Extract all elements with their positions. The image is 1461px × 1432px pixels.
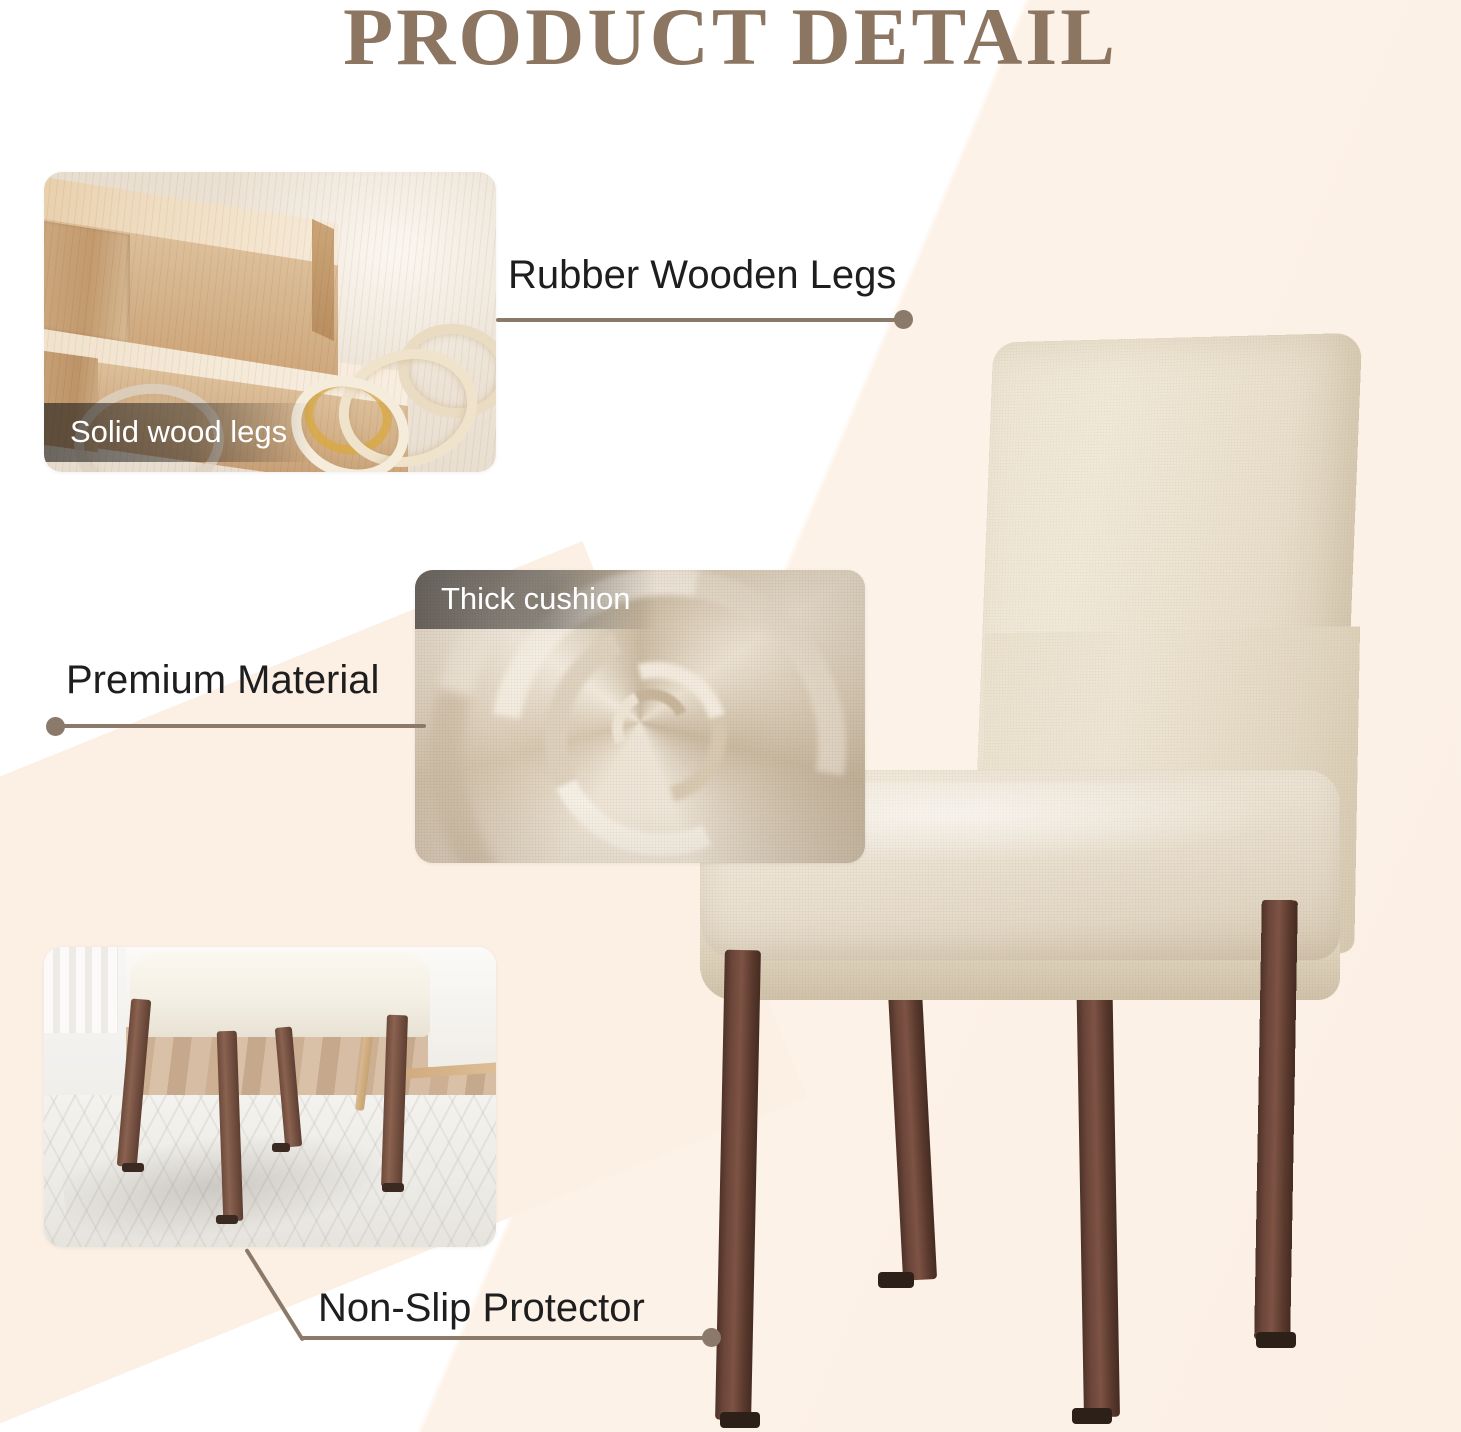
room-curtain (44, 947, 118, 1033)
image-caption-thick-cushion: Thick cushion (415, 570, 657, 629)
leg-protector-front-right (1256, 1332, 1296, 1348)
feature-image-solid-wood: Solid wood legs (44, 172, 496, 472)
leg-protector-front-left (720, 1412, 760, 1428)
product-detail-infographic: PRODUCT DETAIL (0, 0, 1461, 1432)
leader-dot-rubber-wooden-legs (894, 310, 913, 329)
callout-label-premium-material: Premium Material (66, 660, 379, 700)
callout-label-rubber-wooden-legs: Rubber Wooden Legs (508, 255, 896, 295)
leader-line-premium-material (56, 724, 426, 728)
room-leg-protector-4 (382, 1183, 404, 1192)
hero-chair-image (660, 330, 1400, 1430)
leader-dot-non-slip-protector (702, 1328, 721, 1347)
feature-image-thick-cushion: Thick cushion (415, 570, 865, 863)
leader-dot-premium-material (46, 717, 65, 736)
room-wall-right (428, 947, 496, 1067)
leader-line-rubber-wooden-legs (496, 318, 906, 322)
room-leg-protector-1 (122, 1163, 144, 1172)
feature-image-non-slip (44, 947, 496, 1247)
leg-protector-back-right (1072, 1408, 1112, 1424)
callout-label-non-slip-protector: Non-Slip Protector (318, 1288, 645, 1328)
room-chair-seat (130, 953, 430, 1037)
leader-line-non-slip-protector (300, 1336, 712, 1340)
image-caption-solid-wood-legs: Solid wood legs (44, 403, 313, 462)
chair-leg-back-right (1076, 962, 1120, 1418)
room-leg-protector-3 (272, 1143, 290, 1152)
leg-protector-back-left (878, 1272, 914, 1288)
chair-legs-rug-photo (44, 947, 496, 1247)
chair-leg-front-left (715, 950, 761, 1421)
chair-leg-front-right (1254, 900, 1298, 1341)
room-leg-protector-2 (216, 1215, 238, 1224)
chair-leg-back-left (887, 969, 937, 1280)
page-title: PRODUCT DETAIL (0, 0, 1461, 82)
